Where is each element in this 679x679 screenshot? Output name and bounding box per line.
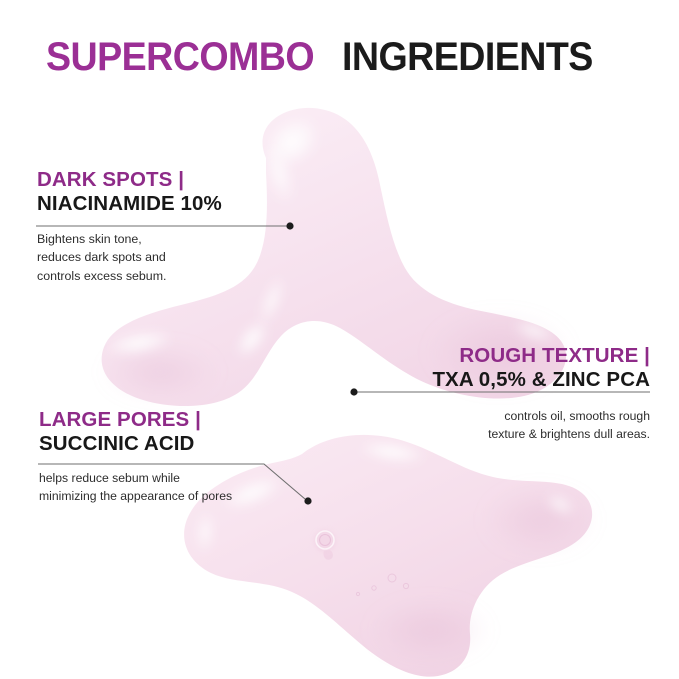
callout-large-pores: LARGE PORES | SUCCINIC ACID helps reduce… — [39, 408, 232, 505]
callout-concern-label: DARK SPOTS | — [37, 168, 222, 192]
callout-description: helps reduce sebum while minimizing the … — [39, 469, 232, 505]
title-word: INGREDIENTS — [342, 37, 593, 77]
title-brand: SUPERCOMBO — [46, 37, 314, 77]
callout-ingredient-label: TXA 0,5% & ZINC PCA — [432, 368, 650, 392]
infographic-canvas: SUPERCOMBOINGREDIENTS DARK SPOTS | NIACI… — [0, 0, 679, 679]
lower-droplet-lobe — [184, 435, 596, 677]
callout-concern-label: LARGE PORES | — [39, 408, 232, 432]
callout-description: Bightens skin tone, reduces dark spots a… — [37, 230, 222, 285]
serum-droplet-illustration — [0, 0, 679, 679]
callout-description: controls oil, smooths rough texture & br… — [432, 407, 650, 443]
callout-ingredient-label: SUCCINIC ACID — [39, 432, 232, 456]
callout-heading: DARK SPOTS | NIACINAMIDE 10% — [37, 168, 222, 216]
callout-heading: ROUGH TEXTURE | TXA 0,5% & ZINC PCA — [432, 344, 650, 392]
callout-dark-spots: DARK SPOTS | NIACINAMIDE 10% Bightens sk… — [37, 168, 222, 285]
callout-rough-texture: ROUGH TEXTURE | TXA 0,5% & ZINC PCA cont… — [432, 344, 650, 443]
page-title: SUPERCOMBOINGREDIENTS — [46, 37, 609, 77]
callout-heading: LARGE PORES | SUCCINIC ACID — [39, 408, 232, 456]
callout-concern-label: ROUGH TEXTURE | — [432, 344, 650, 368]
callout-ingredient-label: NIACINAMIDE 10% — [37, 192, 222, 216]
